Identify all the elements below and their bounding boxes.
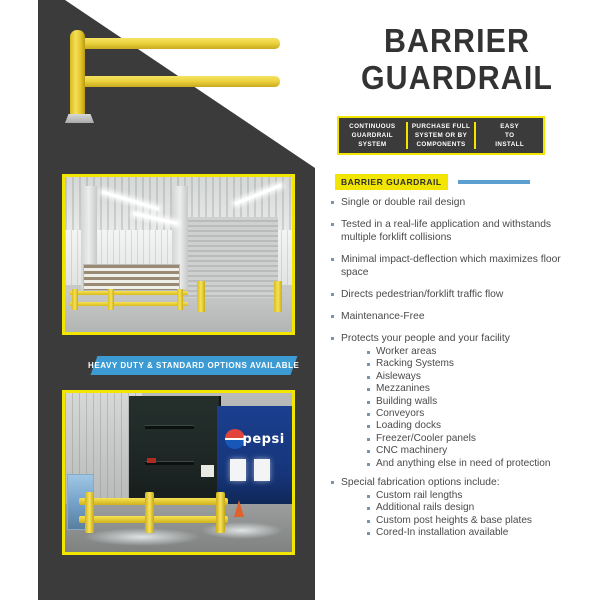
badge-1-line-2: SYSTEM OR BY: [411, 131, 472, 140]
feature-list-level-1: Single or double rail design Tested in a…: [330, 196, 588, 540]
dock-scene: pepsi: [65, 393, 292, 552]
badge-2-line-3: INSTALL: [479, 140, 540, 149]
list-item: Aisleways: [367, 371, 588, 383]
page-title-line-2: GUARDRAIL: [340, 59, 574, 96]
hero-illustration: [38, 0, 315, 168]
badge-continuous-guardrail-system: CONTINUOUS GUARDRAIL SYSTEM: [339, 122, 406, 149]
feature-list: Single or double rail design Tested in a…: [330, 196, 588, 549]
list-item: Worker areas: [367, 346, 588, 358]
section-rule-divider: [458, 180, 530, 184]
left-dark-panel: HEAVY DUTY & STANDARD OPTIONS AVAILABLE …: [38, 0, 315, 600]
badge-0-line-1: CONTINUOUS: [342, 122, 403, 131]
badge-2-line-2: TO: [479, 131, 540, 140]
list-item: Freezer/Cooler panels: [367, 433, 588, 445]
list-item: Building walls: [367, 396, 588, 408]
warehouse-scene: [65, 177, 292, 332]
list-item: Cored-In installation available: [367, 527, 588, 539]
pepsi-trailer-window-1: [230, 459, 246, 481]
badge-0-line-2: GUARDRAIL: [342, 131, 403, 140]
badge-2-line-1: EASY: [479, 122, 540, 131]
dock-machinery-white-label: [201, 465, 214, 477]
dock-traffic-cone-icon: [234, 500, 244, 517]
dock-post-3: [216, 492, 225, 533]
badge-purchase-full-system: PURCHASE FULL SYSTEM OR BY COMPONENTS: [406, 122, 475, 149]
list-item-fabrication: Special fabrication options include: Cus…: [330, 476, 588, 540]
badge-0-line-3: SYSTEM: [342, 140, 403, 149]
pepsi-logo-label: pepsi: [243, 432, 285, 447]
badge-1-line-1: PURCHASE FULL: [411, 122, 472, 131]
dock-post-1: [85, 492, 94, 533]
warehouse-rollup-door: [181, 217, 278, 298]
badge-1-line-3: COMPONENTS: [411, 140, 472, 149]
guardrail-post-left: [70, 30, 85, 118]
warehouse-wall-panels: [83, 264, 180, 291]
feature-badge-bar: CONTINUOUS GUARDRAIL SYSTEM PURCHASE FUL…: [337, 116, 545, 155]
badge-easy-to-install: EASY TO INSTALL: [474, 122, 543, 149]
dock-rail-lower: [79, 516, 229, 523]
dock-pepsi-trailer: pepsi: [217, 406, 292, 505]
fabrication-sublist: Custom rail lengths Additional rails des…: [341, 490, 588, 540]
warehouse-bollard-2: [274, 281, 282, 312]
page-title: BARRIER GUARDRAIL: [330, 22, 584, 96]
list-item: Custom rail lengths: [367, 490, 588, 502]
list-item: Minimal impact-deflection which maximize…: [330, 253, 588, 279]
photo-loading-dock: pepsi: [62, 390, 295, 555]
list-item: Single or double rail design: [330, 196, 588, 209]
protects-sublist: Worker areas Racking Systems Aisleways M…: [341, 346, 588, 470]
guardrail-graphic: [68, 24, 288, 124]
guardrail-bottom-rail: [76, 76, 280, 87]
warehouse-bollard-1: [197, 281, 205, 312]
section-tag-label: BARRIER GUARDRAIL: [335, 174, 448, 190]
list-item: Racking Systems: [367, 358, 588, 370]
dock-post-2: [145, 492, 154, 533]
warehouse-post-1: [72, 289, 78, 311]
list-item: CNC machinery: [367, 445, 588, 457]
list-item: Directs pedestrian/forklift traffic flow: [330, 288, 588, 301]
heavy-duty-banner-label: HEAVY DUTY & STANDARD OPTIONS AVAILABLE: [88, 361, 299, 370]
list-item: Additional rails design: [367, 502, 588, 514]
list-item-label: Protects your people and your facility: [341, 333, 510, 344]
warehouse-post-2: [108, 289, 114, 311]
warehouse-guardrail: [70, 289, 188, 311]
list-item: Loading docks: [367, 420, 588, 432]
list-item: Conveyors: [367, 408, 588, 420]
list-item-protects: Protects your people and your facility W…: [330, 332, 588, 470]
pepsi-trailer-window-2: [254, 459, 270, 481]
dock-machinery-red-label: [147, 458, 156, 463]
heavy-duty-banner: HEAVY DUTY & STANDARD OPTIONS AVAILABLE: [91, 356, 298, 375]
list-item: Tested in a real-life application and wi…: [330, 218, 588, 244]
dock-machinery-stripe-1: [145, 425, 194, 429]
list-item: Mezzanines: [367, 383, 588, 395]
warehouse-rail-lower: [70, 302, 188, 306]
warehouse-rail-upper: [70, 291, 188, 295]
list-item: And anything else in need of protection: [367, 458, 588, 470]
guardrail-base-left: [65, 114, 94, 123]
brochure-page: HEAVY DUTY & STANDARD OPTIONS AVAILABLE …: [0, 0, 600, 600]
dock-guardrail: [79, 492, 229, 533]
list-item: Maintenance-Free: [330, 310, 588, 323]
right-content-column: BARRIER GUARDRAIL CONTINUOUS GUARDRAIL S…: [330, 0, 588, 600]
page-title-line-1: BARRIER: [340, 22, 574, 59]
guardrail-top-rail: [76, 38, 280, 49]
dock-rail-upper: [79, 498, 229, 505]
warehouse-post-3: [177, 289, 183, 311]
list-item-label: Special fabrication options include:: [341, 477, 500, 488]
photo-warehouse-interior: [62, 174, 295, 335]
section-header: BARRIER GUARDRAIL: [335, 174, 585, 190]
list-item: Custom post heights & base plates: [367, 515, 588, 527]
